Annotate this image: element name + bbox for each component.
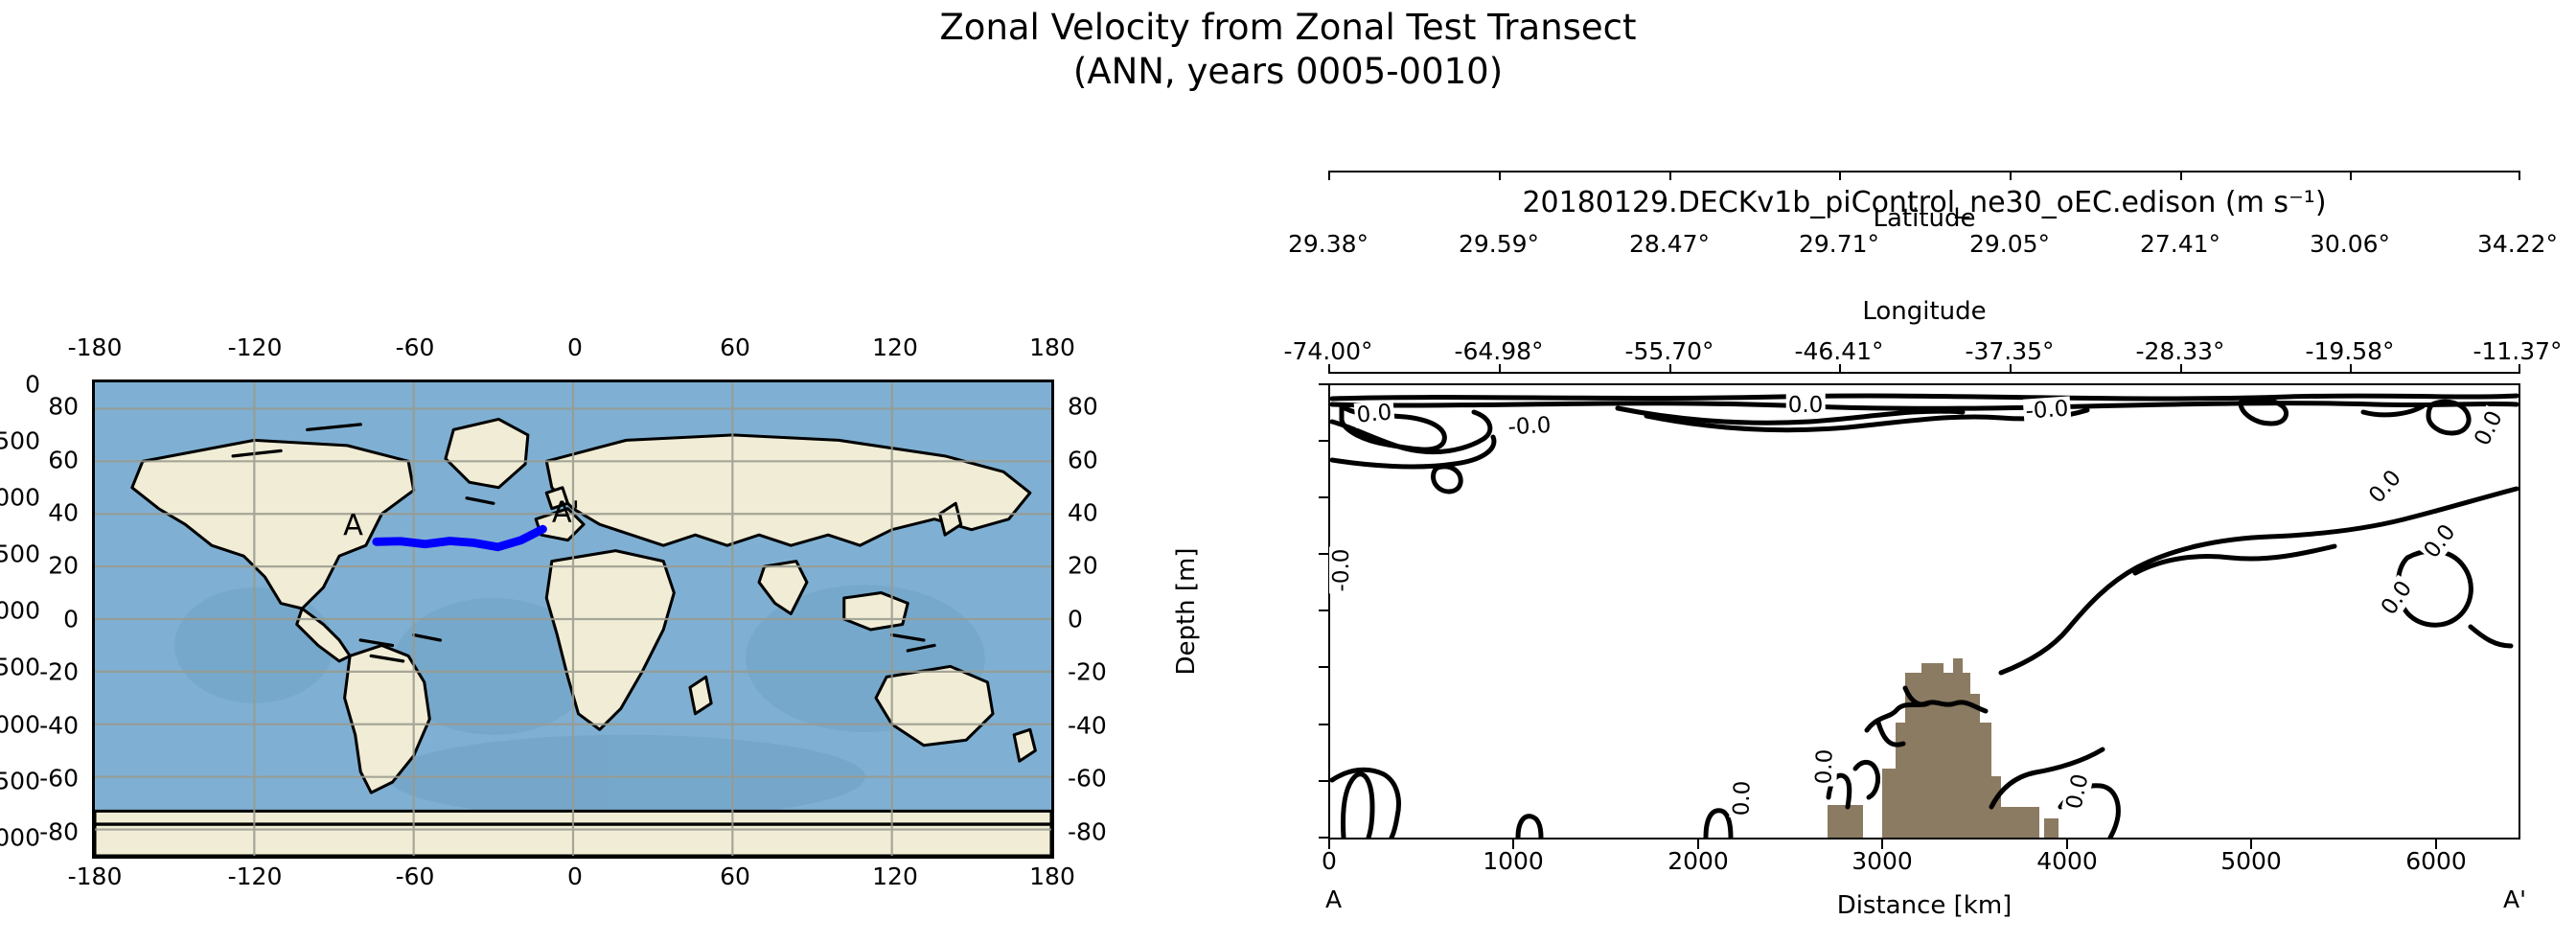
depth-tick-5: -2500 bbox=[0, 654, 40, 681]
map-xtick-bottom-4: 60 bbox=[720, 333, 750, 361]
longitude-axis-spine bbox=[1328, 372, 2520, 374]
depth-tick-7: -3500 bbox=[0, 768, 40, 795]
contour-label-0: 0.0 bbox=[1354, 400, 1395, 427]
lon-tick-1: -64.98° bbox=[1454, 337, 1543, 365]
latitude-tick-mark-0 bbox=[1328, 171, 1330, 180]
map-xtick-bottom-1: -120 bbox=[228, 333, 283, 361]
distance-tick-6: 6000 bbox=[2405, 847, 2467, 875]
lat-tick-2: 28.47° bbox=[1629, 230, 1710, 258]
latitude-axis-spine bbox=[1328, 171, 2520, 172]
latitude-tick-mark-6 bbox=[2350, 171, 2352, 180]
lon-tick-3: -46.41° bbox=[1794, 337, 1883, 365]
figure-title-line1: Zonal Velocity from Zonal Test Transect bbox=[939, 7, 1636, 48]
depth-tick-1: -500 bbox=[0, 427, 40, 455]
map-ytick-right-3: 20 bbox=[1068, 552, 1098, 580]
contour-label-1: -0.0 bbox=[1506, 413, 1553, 441]
lat-tick-4: 29.05° bbox=[1969, 230, 2050, 258]
longitude-tick-mark-0 bbox=[1328, 364, 1330, 374]
map-xtick-top-5: 120 bbox=[872, 862, 918, 890]
depth-tick-2: -1000 bbox=[0, 484, 40, 512]
longitude-tick-mark-1 bbox=[1499, 364, 1501, 374]
distance-tick-4: 4000 bbox=[2036, 847, 2098, 875]
longitude-tick-mark-2 bbox=[1669, 364, 1671, 374]
map-xtick-top-6: 180 bbox=[1029, 862, 1075, 890]
lat-tick-7: 34.22° bbox=[2477, 230, 2558, 258]
map-xtick-top-0: -180 bbox=[68, 862, 123, 890]
section-endpoint-label-a: A bbox=[1325, 885, 1342, 913]
depth-tick-mark-0 bbox=[1319, 383, 1328, 385]
lon-tick-2: -55.70° bbox=[1624, 337, 1713, 365]
lat-tick-3: 29.71° bbox=[1799, 230, 1879, 258]
transect-location-map[interactable]: A A' bbox=[92, 379, 1054, 859]
map-xtick-bottom-2: -60 bbox=[396, 333, 435, 361]
distance-tick-5: 5000 bbox=[2220, 847, 2282, 875]
contour-label-10: 0.0 bbox=[1729, 778, 1755, 817]
latitude-tick-mark-3 bbox=[1839, 171, 1841, 180]
lat-tick-5: 27.41° bbox=[2140, 230, 2220, 258]
map-xtick-bottom-3: 0 bbox=[567, 333, 583, 361]
depth-tick-mark-5 bbox=[1319, 666, 1328, 668]
map-xtick-bottom-0: -180 bbox=[68, 333, 123, 361]
depth-axis-title: Depth [m] bbox=[1172, 547, 1201, 675]
map-ytick-right-8: -80 bbox=[1068, 818, 1107, 846]
depth-tick-0: 0 bbox=[0, 371, 40, 399]
lon-tick-7: -11.37° bbox=[2472, 337, 2562, 365]
map-ytick-right-4: 0 bbox=[1068, 606, 1083, 633]
longitude-tick-mark-4 bbox=[2010, 364, 2012, 374]
lon-tick-5: -28.33° bbox=[2135, 337, 2224, 365]
map-xtick-bottom-6: 180 bbox=[1029, 333, 1075, 361]
distance-tick-2: 2000 bbox=[1667, 847, 1729, 875]
cross-section-frame bbox=[1328, 383, 2520, 839]
map-ytick-right-2: 40 bbox=[1068, 499, 1098, 527]
depth-tick-mark-8 bbox=[1319, 837, 1328, 839]
figure-title: Zonal Velocity from Zonal Test Transect … bbox=[0, 6, 2576, 94]
section-endpoint-label-a-prime: A' bbox=[2503, 885, 2526, 913]
cross-section-graphic bbox=[1330, 385, 2518, 838]
latitude-tick-mark-5 bbox=[2180, 171, 2182, 180]
map-ytick-right-5: -20 bbox=[1068, 658, 1107, 686]
lat-tick-6: 30.06° bbox=[2310, 230, 2390, 258]
distance-tick-1: 1000 bbox=[1483, 847, 1544, 875]
longitude-axis-title: Longitude bbox=[1862, 297, 1986, 326]
depth-tick-3: -1500 bbox=[0, 540, 40, 568]
lon-tick-4: -37.35° bbox=[1965, 337, 2054, 365]
map-xtick-bottom-5: 120 bbox=[872, 333, 918, 361]
map-ytick-right-7: -60 bbox=[1068, 765, 1107, 793]
map-xtick-top-2: -60 bbox=[396, 862, 435, 890]
map-ytick-right-1: 60 bbox=[1068, 447, 1098, 474]
map-endpoint-label-a-prime: A' bbox=[552, 496, 580, 530]
lat-tick-0: 29.38° bbox=[1288, 230, 1368, 258]
map-xtick-top-1: -120 bbox=[228, 862, 283, 890]
latitude-tick-mark-4 bbox=[2010, 171, 2012, 180]
longitude-tick-mark-6 bbox=[2350, 364, 2352, 374]
lon-tick-6: -19.58° bbox=[2305, 337, 2394, 365]
depth-tick-mark-1 bbox=[1319, 440, 1328, 442]
map-endpoint-label-a: A bbox=[343, 509, 363, 542]
longitude-tick-mark-5 bbox=[2180, 364, 2182, 374]
latitude-tick-mark-1 bbox=[1499, 171, 1501, 180]
map-ytick-right-0: 80 bbox=[1068, 393, 1098, 421]
contour-label-9: 0.0 bbox=[1811, 747, 1837, 786]
lat-tick-1: 29.59° bbox=[1459, 230, 1539, 258]
depth-section-plot[interactable] bbox=[1328, 383, 2520, 839]
longitude-tick-mark-7 bbox=[2518, 364, 2520, 374]
distance-tick-3: 3000 bbox=[1851, 847, 1913, 875]
depth-tick-mark-3 bbox=[1319, 553, 1328, 555]
contour-label-3: -0.0 bbox=[2023, 396, 2072, 424]
depth-tick-mark-6 bbox=[1319, 724, 1328, 725]
depth-tick-4: -2000 bbox=[0, 597, 40, 625]
depth-tick-mark-2 bbox=[1319, 496, 1328, 498]
map-xtick-top-4: 60 bbox=[720, 862, 750, 890]
latitude-tick-mark-2 bbox=[1669, 171, 1671, 180]
map-xtick-top-3: 0 bbox=[567, 862, 583, 890]
depth-tick-mark-7 bbox=[1319, 780, 1328, 782]
map-frame: A A' bbox=[92, 379, 1054, 859]
latitude-tick-mark-7 bbox=[2518, 171, 2520, 180]
longitude-tick-mark-3 bbox=[1839, 364, 1841, 374]
contour-label-5: -0.0 bbox=[1329, 547, 1354, 594]
latitude-axis-title: Latitude bbox=[1873, 204, 1975, 233]
figure-canvas: Zonal Velocity from Zonal Test Transect … bbox=[0, 0, 2576, 943]
depth-tick-mark-4 bbox=[1319, 609, 1328, 611]
distance-tick-0: 0 bbox=[1322, 847, 1337, 875]
world-map-graphic: A A' bbox=[95, 382, 1051, 856]
contour-label-2: 0.0 bbox=[1786, 393, 1826, 418]
depth-tick-8: -4000 bbox=[0, 824, 40, 852]
lon-tick-0: -74.00° bbox=[1283, 337, 1372, 365]
depth-tick-6: -3000 bbox=[0, 711, 40, 739]
figure-title-line2: (ANN, years 0005-0010) bbox=[0, 50, 2576, 94]
distance-axis-title: Distance [km] bbox=[1837, 891, 2012, 920]
map-ytick-right-6: -40 bbox=[1068, 712, 1107, 740]
